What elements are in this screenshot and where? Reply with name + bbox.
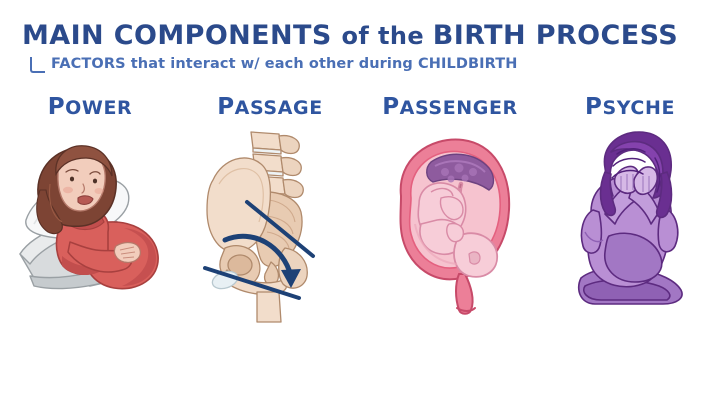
component-passenger: PASSENGER [360,96,540,326]
component-psyche: PSYCHE [540,96,720,326]
subtitle-row: FACTORS that interact w/ each other duri… [30,56,517,73]
component-label-passage: PASSAGE [217,96,323,120]
component-label-psyche: PSYCHE [585,96,675,120]
component-power: POWER [0,96,180,326]
corner-bracket-icon [30,57,45,73]
title-part-1: MAIN COMPONENTS [22,20,341,51]
label-rest: SYCHE [602,97,675,119]
label-cap: P [585,94,602,120]
page-title: MAIN COMPONENTS of the BIRTH PROCESS [22,22,678,49]
components-row: POWER [0,96,720,326]
label-cap: P [48,94,65,120]
component-passage: PASSAGE [180,96,360,326]
label-cap: P [217,94,234,120]
component-label-passenger: PASSENGER [382,96,518,120]
laboring-woman-on-bed-illustration [4,128,176,308]
title-part-3: BIRTH PROCESS [433,20,678,51]
title-part-2: of the [341,22,432,50]
female-pelvis-birth-canal-illustration [195,128,345,324]
label-rest: OWER [65,97,132,119]
slide-header: MAIN COMPONENTS of the BIRTH PROCESS FAC… [0,0,720,92]
page-subtitle: FACTORS that interact w/ each other duri… [51,56,517,73]
kneeling-distressed-pregnant-woman-illustration [555,128,705,318]
fetus-in-uterus-cephalic-presentation-illustration [375,128,525,318]
component-label-power: POWER [48,96,133,120]
label-rest: ASSAGE [235,97,323,119]
label-rest: ASSENGER [400,97,518,119]
label-cap: P [382,94,399,120]
